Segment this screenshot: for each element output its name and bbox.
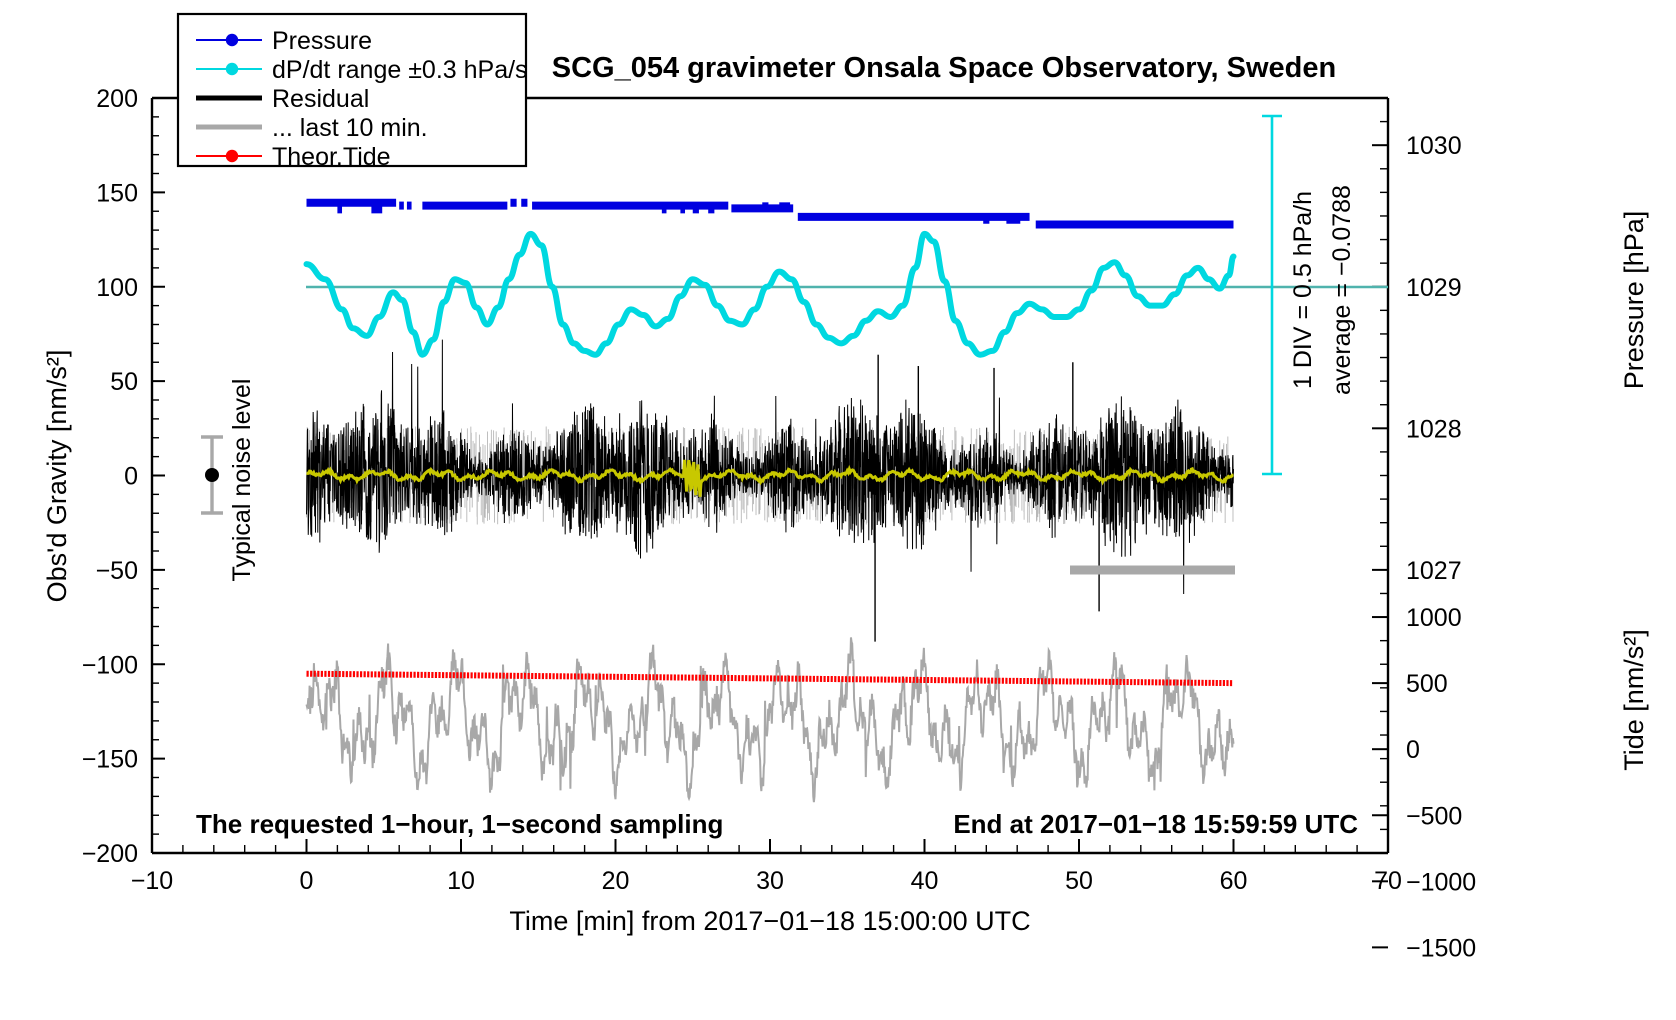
right-pressure-axis-title: Pressure [hPa]	[1619, 211, 1649, 390]
legend: PressuredP/dt range ±0.3 hPa/sResidual..…	[178, 14, 528, 171]
left-tick-label: 50	[110, 368, 138, 396]
left-axis-title: Obs'd Gravity [nm/s²]	[42, 350, 72, 603]
bottom-axis-tick-labels: −10010203040506070	[131, 867, 1402, 895]
bottom-axis-title: Time [min] from 2017−01−18 15:00:00 UTC	[509, 906, 1030, 936]
bottom-tick-label: −10	[131, 867, 173, 895]
legend-label: Theor.Tide	[272, 143, 391, 171]
legend-label: dP/dt range ±0.3 hPa/s	[272, 56, 528, 84]
legend-marker-dot	[226, 150, 238, 162]
left-tick-label: 0	[124, 463, 138, 491]
bottom-tick-label: 0	[300, 867, 314, 895]
right-pressure-tick-label: 1028	[1406, 415, 1462, 443]
gravimeter-chart-figure: 200150100500−50−100−150−200 −10010203040…	[0, 0, 1676, 1020]
residual-noise	[307, 340, 1234, 594]
legend-marker-dot	[226, 34, 238, 46]
left-axis-tick-labels: 200150100500−50−100−150−200	[82, 85, 138, 868]
legend-marker-dot	[226, 63, 238, 75]
legend-label: ... last 10 min.	[272, 114, 428, 142]
last-10-min-curve	[307, 637, 1234, 802]
right-pressure-tick-label: 1027	[1406, 557, 1462, 585]
bottom-tick-label: 60	[1220, 867, 1248, 895]
right-tide-tick-label: −1000	[1406, 868, 1476, 896]
dpdt-scale-bar	[1262, 116, 1282, 474]
right-tide-tick-label: 1000	[1406, 604, 1462, 632]
chart-title: SCG_054 gravimeter Onsala Space Observat…	[552, 52, 1336, 84]
legend-label: Pressure	[272, 27, 372, 55]
right-tide-axis-title: Tide [nm/s²]	[1619, 629, 1649, 771]
left-tick-label: −200	[82, 840, 138, 868]
bottom-tick-label: 10	[447, 867, 475, 895]
left-tick-label: 150	[96, 179, 138, 207]
sampling-note-label: The requested 1−hour, 1−second sampling	[196, 809, 723, 839]
end-time-label: End at 2017−01−18 15:59:59 UTC	[953, 809, 1358, 839]
right-pressure-tick-label: 1029	[1406, 274, 1462, 302]
series-pressure	[307, 203, 1234, 225]
bottom-tick-label: 50	[1065, 867, 1093, 895]
right-tide-tick-labels: 10005000−500−1000−1500	[1406, 604, 1476, 962]
right-pressure-tick-labels: 1030102910281027	[1406, 132, 1462, 585]
left-tick-label: −100	[82, 651, 138, 679]
typical-noise-level-label: Typical noise level	[228, 379, 256, 582]
bottom-tick-label: 20	[602, 867, 630, 895]
series-theoretical-tide	[307, 674, 1233, 683]
right-pressure-tick-label: 1030	[1406, 132, 1462, 160]
bottom-tick-label: 40	[911, 867, 939, 895]
bottom-tick-label: 30	[756, 867, 784, 895]
right-tide-tick-label: −1500	[1406, 934, 1476, 962]
average-label: average = −0.0788	[1328, 185, 1356, 395]
left-tick-label: 200	[96, 85, 138, 113]
left-tick-label: 100	[96, 274, 138, 302]
right-tide-tick-label: 0	[1406, 736, 1420, 764]
dpdt-curve	[307, 234, 1234, 355]
typical-noise-level-errorbar	[201, 437, 223, 513]
series-dpdt-range	[307, 234, 1234, 355]
left-tick-label: −150	[82, 746, 138, 774]
div-scale-label: 1 DIV = 0.5 hPa/h	[1289, 191, 1317, 389]
left-tick-label: −50	[96, 557, 138, 585]
legend-label: Residual	[272, 85, 369, 113]
right-tide-tick-label: −500	[1406, 802, 1462, 830]
chart-canvas: 200150100500−50−100−150−200 −10010203040…	[0, 0, 1676, 1020]
right-tide-tick-label: 500	[1406, 670, 1448, 698]
